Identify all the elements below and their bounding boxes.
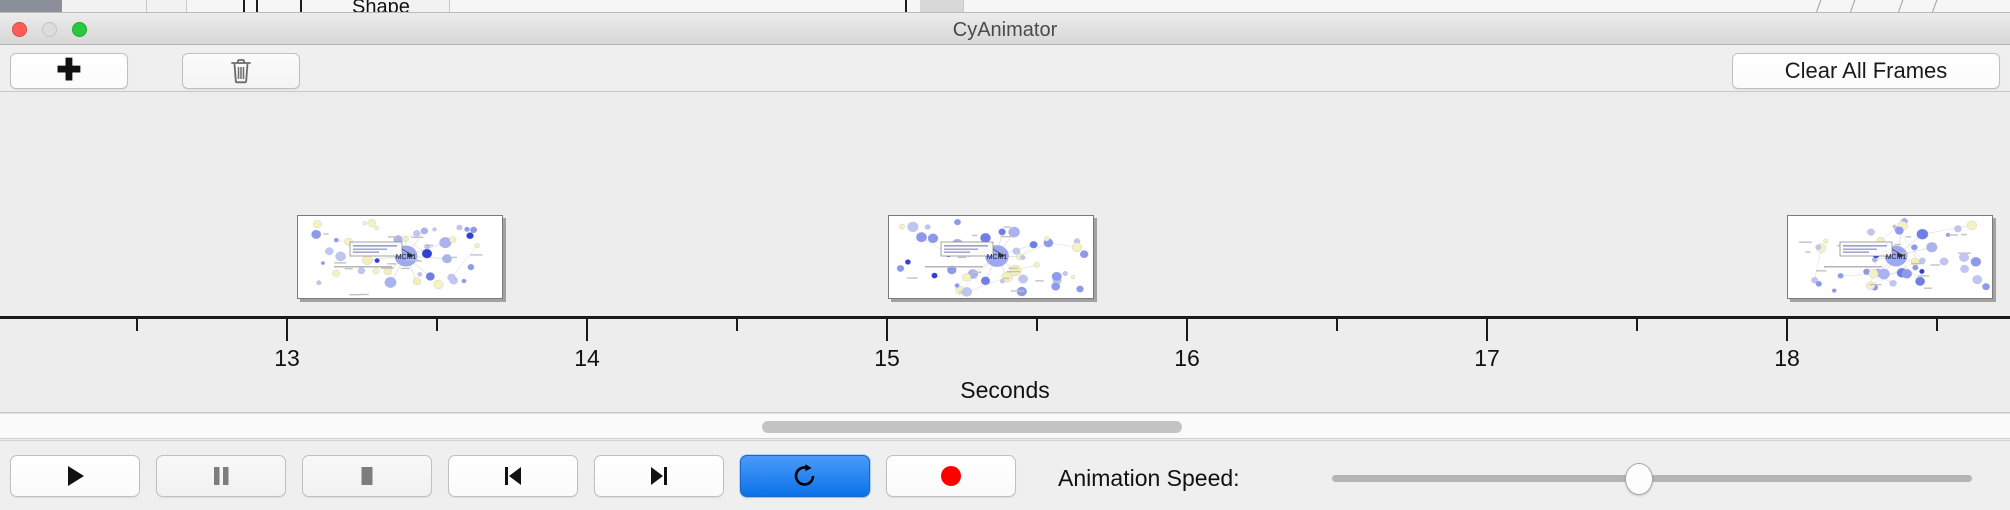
delete-frame-button[interactable]: [182, 53, 300, 89]
window-title: CyAnimator: [0, 19, 2010, 42]
background-window-label: Shape: [352, 0, 410, 13]
frame-thumbnail: MCM1: [889, 216, 1094, 299]
title-bar: CyAnimator: [0, 13, 2010, 45]
cyanimator-window: Shape CyAnimator ✚ Clear All Frames: [0, 0, 2010, 510]
stop-icon: [354, 463, 380, 489]
frame-thumbnail: MCM1: [1788, 216, 1993, 299]
timeline-tick-label: 16: [1174, 345, 1200, 372]
timeline-frame[interactable]: MCM1: [297, 215, 503, 299]
play-button[interactable]: [10, 455, 140, 497]
timeline-frame[interactable]: MCM1: [888, 215, 1094, 299]
timeline-tick: [736, 319, 738, 331]
plus-icon: ✚: [56, 56, 81, 86]
timeline-tick: [1636, 319, 1638, 331]
timeline-axis-line: [0, 316, 2010, 319]
timeline-tick-label: 17: [1474, 345, 1500, 372]
loop-button[interactable]: [740, 455, 870, 497]
svg-text:MCM1: MCM1: [987, 254, 1008, 261]
timeline-tick: [1936, 319, 1938, 331]
timeline-tick: [436, 319, 438, 331]
timeline-tick: [586, 319, 588, 341]
animation-speed-label: Animation Speed:: [1058, 465, 1240, 492]
timeline-scrollbar-thumb[interactable]: [762, 421, 1182, 433]
timeline-tick-label: 15: [874, 345, 900, 372]
timeline-tick: [1336, 319, 1338, 331]
timeline-tick-label: 14: [574, 345, 600, 372]
skip-to-start-button[interactable]: [448, 455, 578, 497]
loop-icon: [791, 462, 819, 490]
skip-forward-icon: [646, 463, 672, 489]
timeline-tick: [1186, 319, 1188, 341]
play-icon: [62, 463, 88, 489]
playback-control-bar: Animation Speed:: [0, 440, 2010, 510]
toolbar: ✚ Clear All Frames: [0, 45, 2010, 92]
timeline-tick: [1486, 319, 1488, 341]
trash-icon: [230, 58, 252, 84]
timeline-axis-title: Seconds: [0, 377, 2010, 404]
skip-back-icon: [500, 463, 526, 489]
background-window-strip: Shape: [0, 0, 2010, 13]
skip-to-end-button[interactable]: [594, 455, 724, 497]
svg-text:MCM1: MCM1: [1886, 254, 1907, 261]
timeline-panel[interactable]: Seconds 12131415161718MCM1MCM1MCM1: [0, 92, 2010, 413]
add-frame-button[interactable]: ✚: [10, 53, 128, 89]
clear-all-frames-button[interactable]: Clear All Frames: [1732, 53, 2000, 89]
pause-icon: [208, 463, 234, 489]
stop-button[interactable]: [302, 455, 432, 497]
frame-thumbnail: MCM1: [298, 216, 503, 299]
animation-speed-slider-thumb[interactable]: [1625, 463, 1653, 495]
timeline-scrollbar[interactable]: [0, 413, 2010, 439]
svg-text:MCM1: MCM1: [396, 254, 417, 261]
timeline-frame[interactable]: MCM1: [1787, 215, 1993, 299]
timeline-tick: [136, 319, 138, 331]
timeline-tick-label: 18: [1774, 345, 1800, 372]
clear-all-frames-label: Clear All Frames: [1785, 58, 1948, 84]
pause-button[interactable]: [156, 455, 286, 497]
timeline-tick-label: 13: [274, 345, 300, 372]
timeline-tick: [286, 319, 288, 341]
timeline-tick: [1786, 319, 1788, 341]
record-icon: [938, 463, 964, 489]
timeline-tick: [886, 319, 888, 341]
record-button[interactable]: [886, 455, 1016, 497]
timeline-tick: [1036, 319, 1038, 331]
timeline-content: Seconds 12131415161718MCM1MCM1MCM1: [0, 92, 2010, 413]
